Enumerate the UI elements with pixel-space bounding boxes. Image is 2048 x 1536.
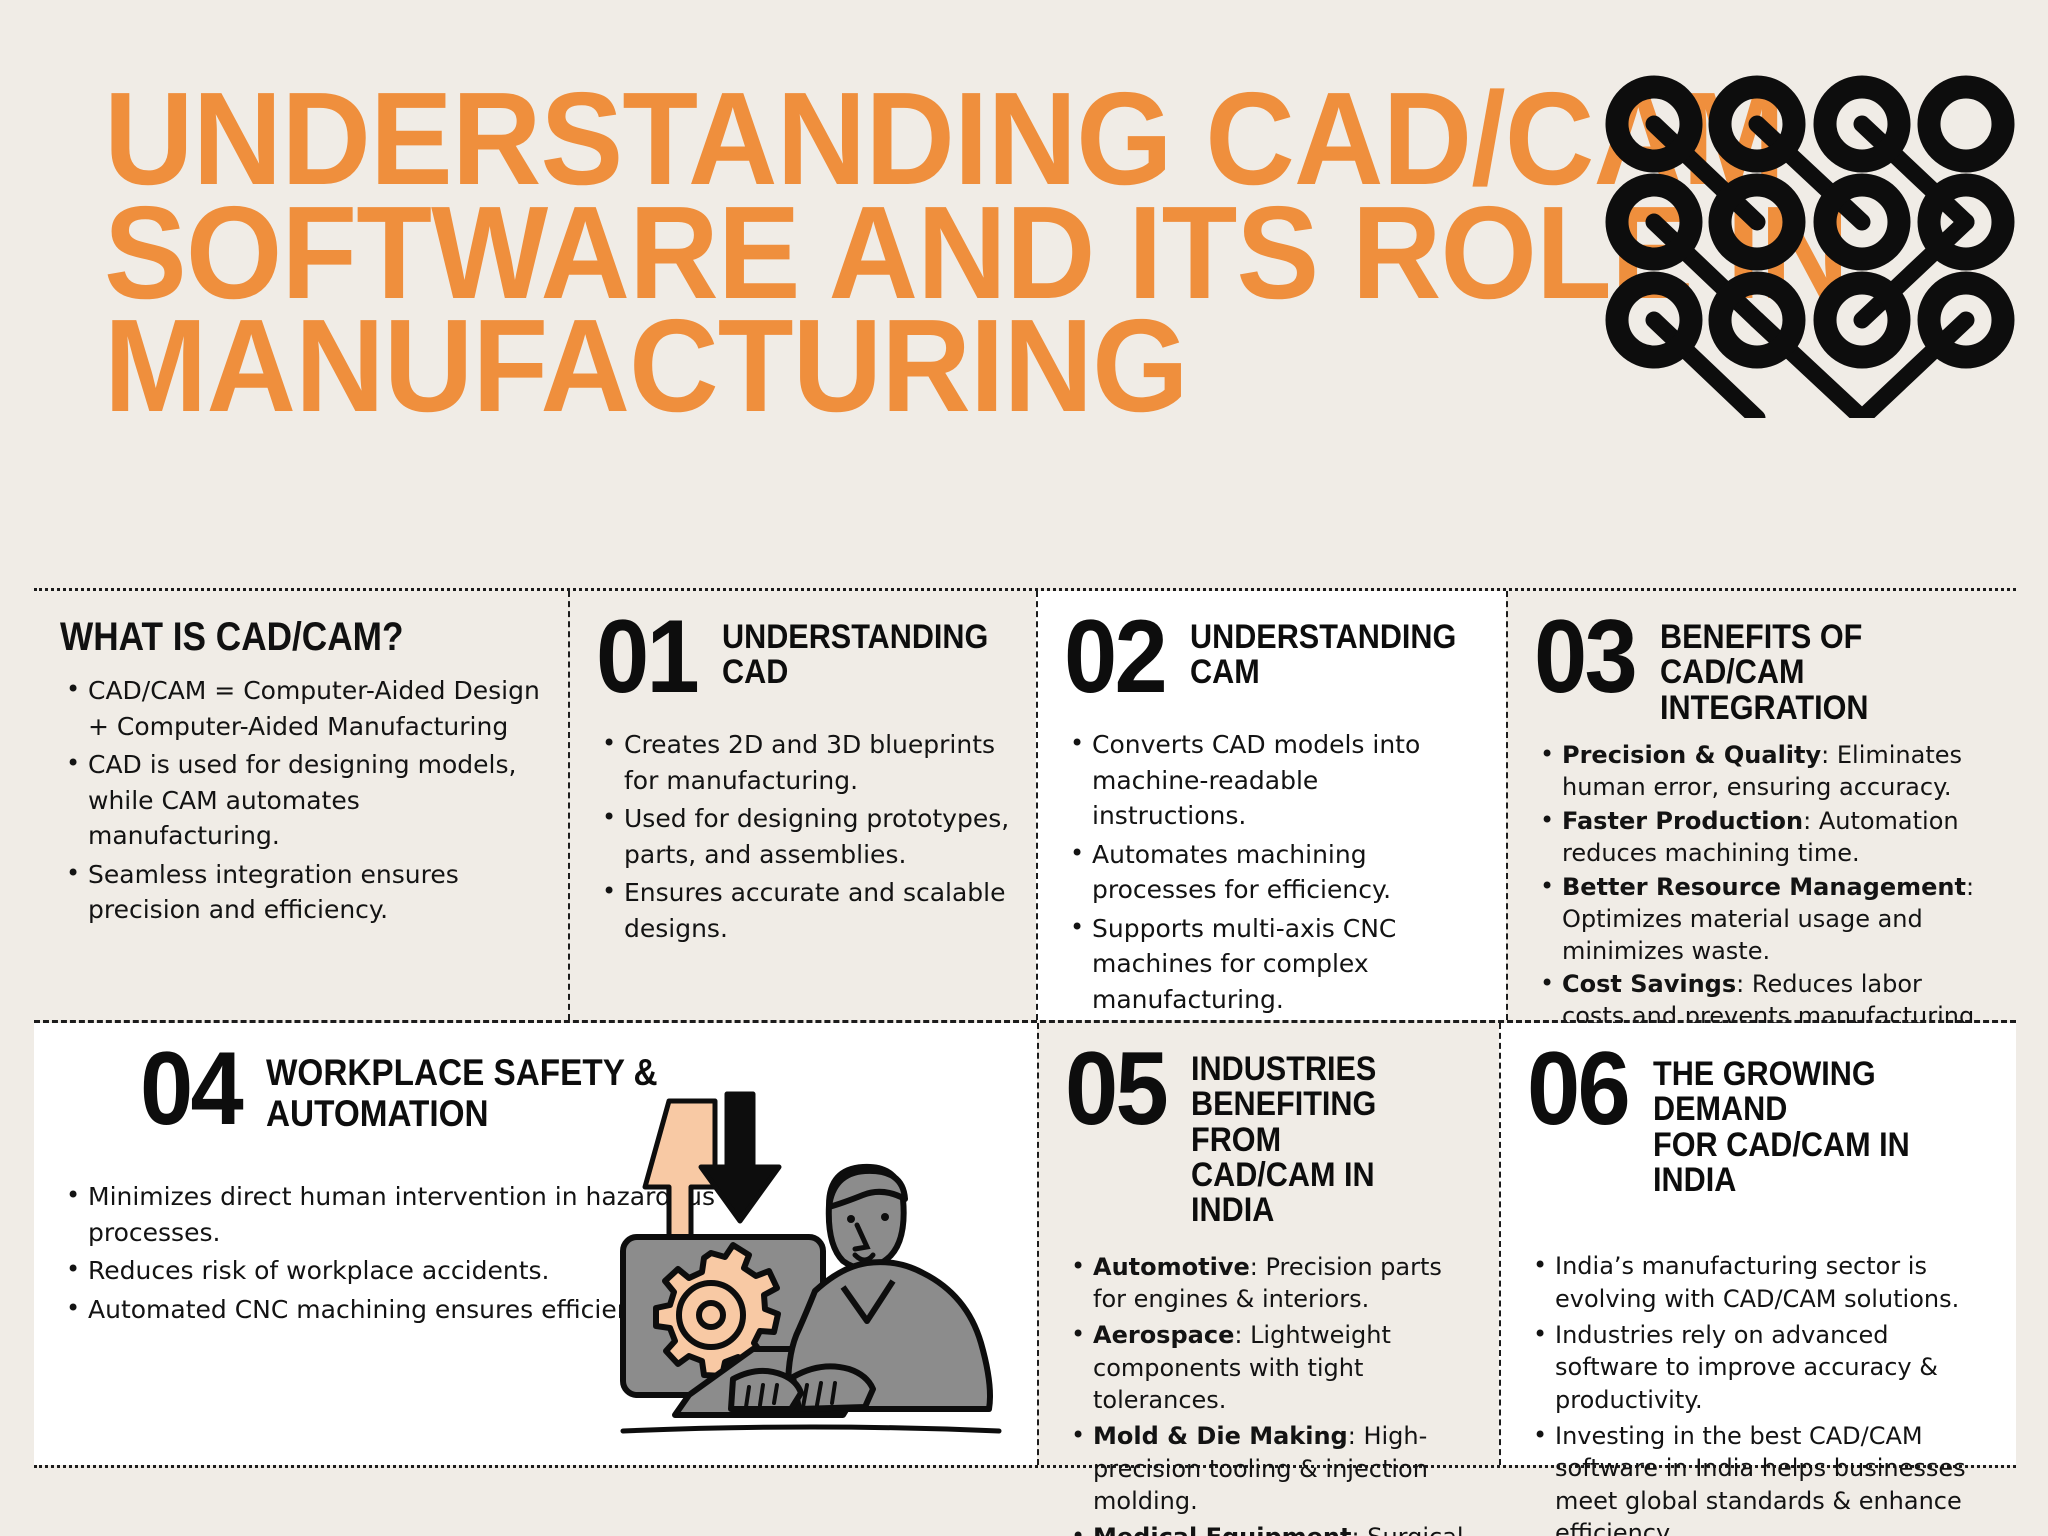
panel-heading: WHAT IS CAD/CAM? — [60, 617, 484, 657]
panel-number: 01 — [596, 617, 697, 698]
list-item-label: Mold & Die Making — [1093, 1422, 1348, 1450]
panel-number: 03 — [1534, 617, 1635, 698]
panel-04-workplace-safety: 04 WORKPLACE SAFETY & AUTOMATION Minimiz… — [34, 1023, 1037, 1465]
bullet-list: CAD/CAM = Computer-Aided Design + Comput… — [60, 673, 542, 928]
list-item-label: Automotive — [1093, 1253, 1250, 1281]
bullet-list: Converts CAD models into machine-readabl… — [1064, 727, 1480, 1017]
panel-heading: BENEFITS OF CAD/CAM INTEGRATION — [1660, 617, 1869, 726]
panel-header: 01 UNDERSTANDING CAD — [596, 617, 1010, 713]
title-line-3: MANUFACTURING — [104, 309, 1439, 423]
panel-heading: THE GROWING DEMAND FOR CAD/CAM IN INDIA — [1653, 1049, 1957, 1198]
panel-header: 06 THE GROWING DEMAND FOR CAD/CAM IN IND… — [1527, 1049, 1990, 1198]
list-item-label: Cost Savings — [1562, 970, 1736, 998]
panel-heading: UNDERSTANDING CAD — [722, 617, 988, 691]
list-item: Mold & Die Making: High-precision toolin… — [1065, 1420, 1473, 1518]
panel-number: 04 — [140, 1049, 241, 1130]
panel-header: 03 BENEFITS OF CAD/CAM INTEGRATION — [1534, 617, 1990, 726]
list-item-text: Optimizes material usage and minimizes w… — [1562, 905, 1923, 965]
list-item-label: Faster Production — [1562, 807, 1803, 835]
bullet-list: Precision & Quality: Eliminates human er… — [1534, 740, 1990, 1065]
list-item-label: Aerospace — [1093, 1321, 1234, 1349]
panel-02-understanding-cam: 02 UNDERSTANDING CAM Converts CAD models… — [1036, 591, 1506, 1020]
list-item: Industries rely on advanced software to … — [1527, 1319, 1990, 1417]
list-item: CAD is used for designing models, while … — [60, 747, 542, 854]
infographic-page: UNDERSTANDING CAD/CAM SOFTWARE AND ITS R… — [0, 0, 2048, 1536]
list-item: Seamless integration ensures precision a… — [60, 857, 542, 928]
list-item: Converts CAD models into machine-readabl… — [1064, 727, 1480, 834]
list-item: Supports multi-axis CNC machines for com… — [1064, 911, 1480, 1018]
page-title: UNDERSTANDING CAD/CAM SOFTWARE AND ITS R… — [104, 82, 1439, 423]
panel-06-growing-demand: 06 THE GROWING DEMAND FOR CAD/CAM IN IND… — [1499, 1023, 2016, 1465]
list-item: Aerospace: Lightweight components with t… — [1065, 1319, 1473, 1417]
panel-number: 06 — [1527, 1049, 1628, 1130]
panel-what-is-cadcam: WHAT IS CAD/CAM? CAD/CAM = Computer-Aide… — [34, 591, 568, 1020]
panel-01-understanding-cad: 01 UNDERSTANDING CAD Creates 2D and 3D b… — [568, 591, 1036, 1020]
list-item-label: Precision & Quality — [1562, 741, 1821, 769]
list-item: India’s manufacturing sector is evolving… — [1527, 1250, 1990, 1315]
panel-03-benefits: 03 BENEFITS OF CAD/CAM INTEGRATION Preci… — [1506, 591, 2016, 1020]
panel-heading: UNDERSTANDING CAM — [1190, 617, 1456, 691]
list-item: Precision & Quality: Eliminates human er… — [1534, 740, 1990, 804]
bullet-list: Creates 2D and 3D blueprints for manufac… — [596, 727, 1010, 946]
list-item: Medical Equipment: Surgical tools & pros… — [1065, 1521, 1473, 1536]
list-item: Automotive: Precision parts for engines … — [1065, 1251, 1473, 1316]
list-item-label: Better Resource Management — [1562, 873, 1966, 901]
panel-header: 05 INDUSTRIES BENEFITING FROM CAD/CAM IN… — [1065, 1049, 1473, 1229]
list-item: Investing in the best CAD/CAM software i… — [1527, 1420, 1990, 1536]
man-at-computer-with-gear-icon — [593, 1059, 1023, 1459]
list-item: Faster Production: Automation reduces ma… — [1534, 806, 1990, 870]
list-item: Better Resource Management: Optimizes ma… — [1534, 872, 1990, 968]
panel-row-bottom: 04 WORKPLACE SAFETY & AUTOMATION Minimiz… — [34, 1020, 2016, 1468]
list-item-label: Medical Equipment — [1093, 1523, 1351, 1536]
panel-05-industries: 05 INDUSTRIES BENEFITING FROM CAD/CAM IN… — [1037, 1023, 1499, 1465]
panel-header: 02 UNDERSTANDING CAM — [1064, 617, 1480, 713]
list-item: Ensures accurate and scalable designs. — [596, 875, 1010, 946]
panel-row-top: WHAT IS CAD/CAM? CAD/CAM = Computer-Aide… — [34, 588, 2016, 1020]
header: UNDERSTANDING CAD/CAM SOFTWARE AND ITS R… — [0, 0, 2048, 580]
bullet-list: India’s manufacturing sector is evolving… — [1527, 1250, 1990, 1536]
panel-number: 02 — [1064, 617, 1165, 698]
list-item: Used for designing prototypes, parts, an… — [596, 801, 1010, 872]
list-item: CAD/CAM = Computer-Aided Design + Comput… — [60, 673, 542, 744]
list-item: Automates machining processes for effici… — [1064, 837, 1480, 908]
panel-heading: INDUSTRIES BENEFITING FROM CAD/CAM IN IN… — [1191, 1049, 1445, 1229]
list-item: Creates 2D and 3D blueprints for manufac… — [596, 727, 1010, 798]
bullet-list: Automotive: Precision parts for engines … — [1065, 1251, 1473, 1536]
connected-circles-pattern-icon — [1594, 68, 2034, 418]
panel-number: 05 — [1065, 1049, 1166, 1130]
